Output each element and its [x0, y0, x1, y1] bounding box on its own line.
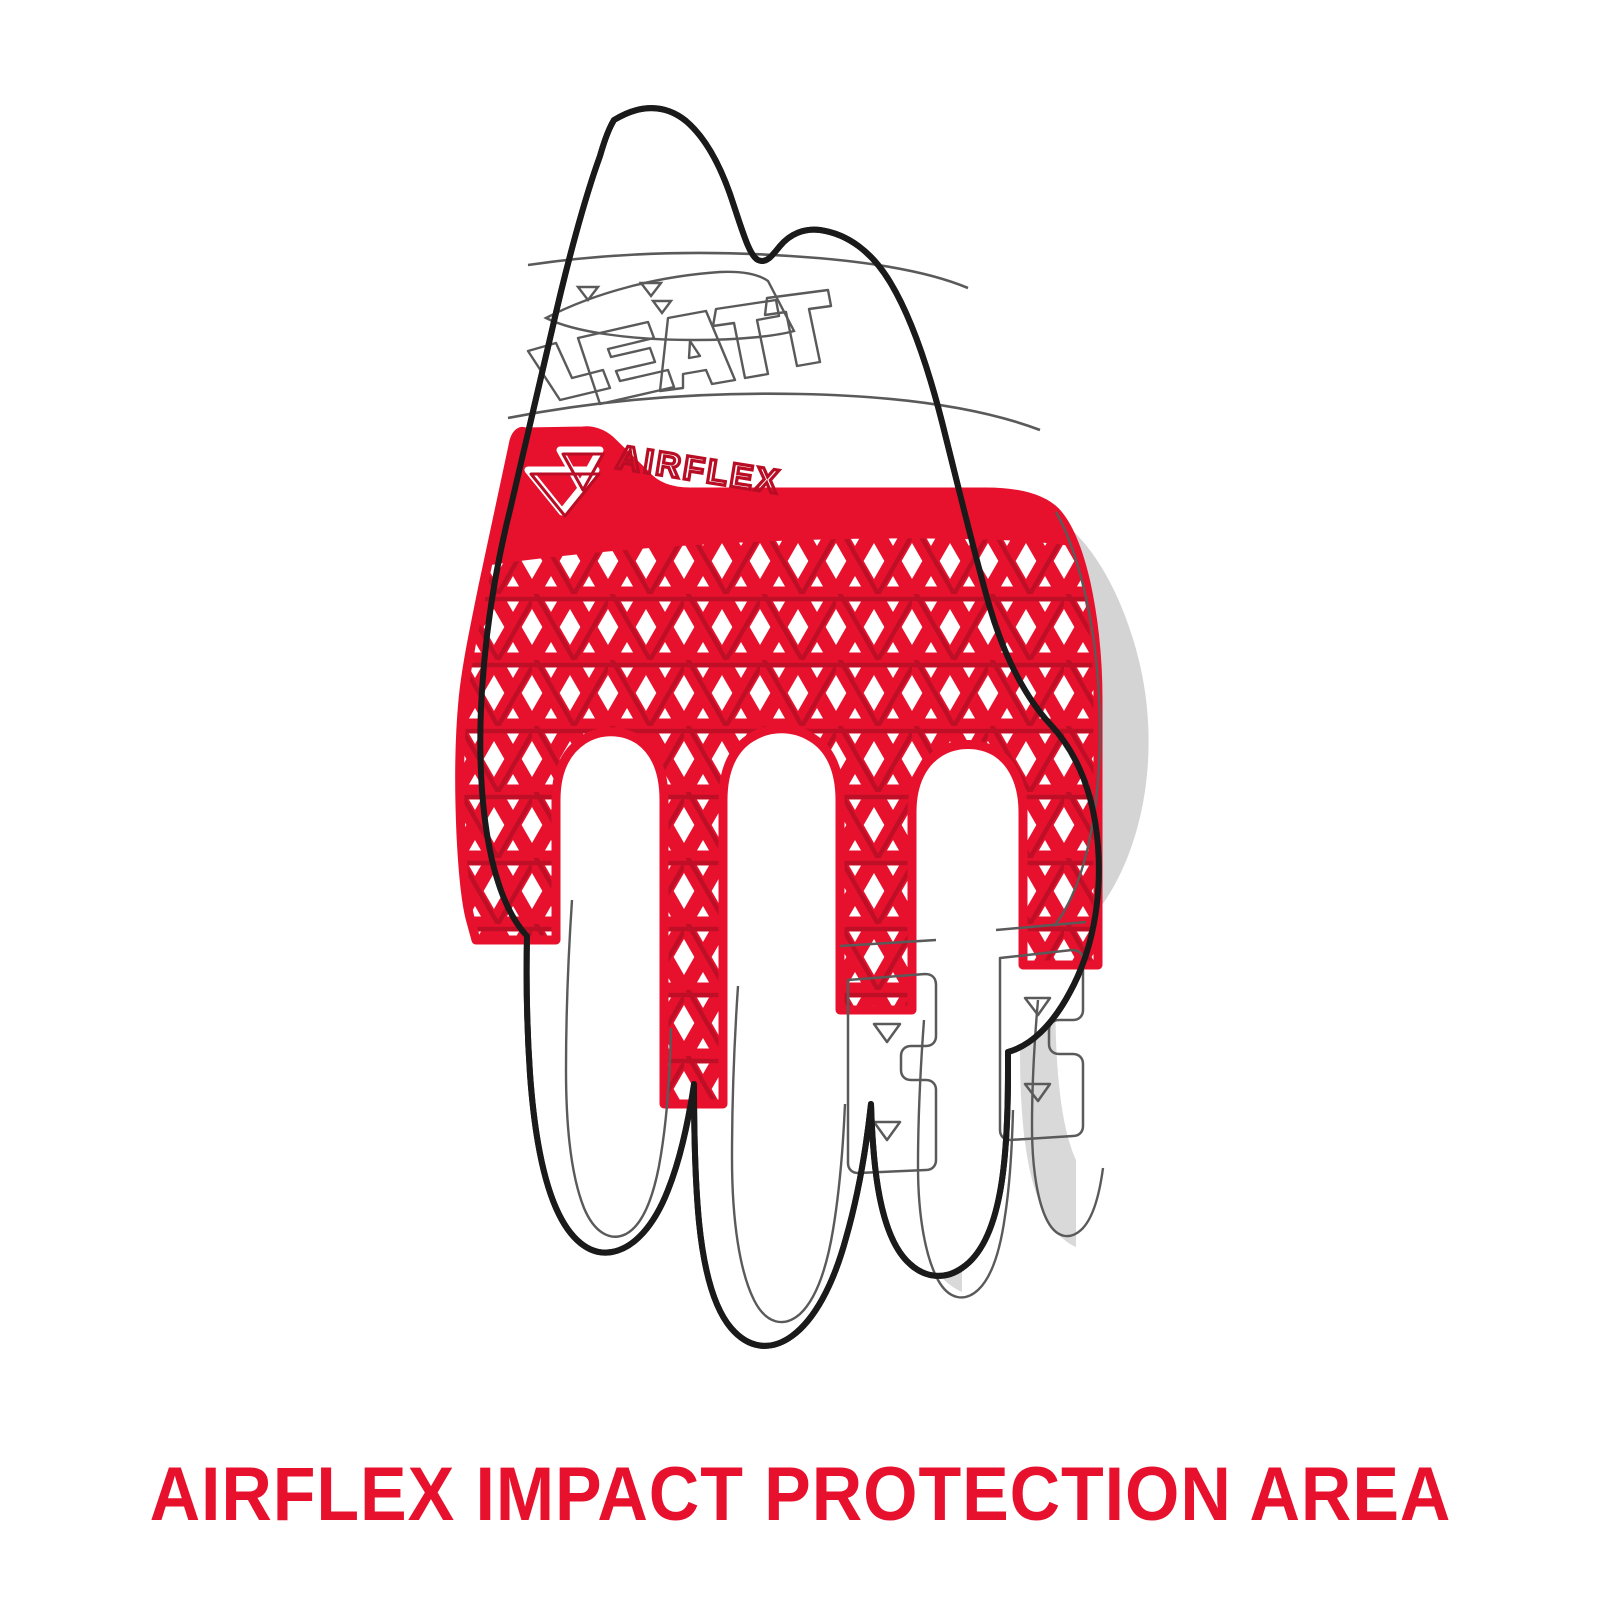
glove-svg: AIRFLEX: [0, 0, 1600, 1420]
caption-wrap: AIRFLEX IMPACT PROTECTION AREA: [0, 1440, 1600, 1550]
glove-illustration: AIRFLEX: [0, 0, 1600, 1420]
illustration-page: AIRFLEX: [0, 0, 1600, 1600]
caption-text: AIRFLEX IMPACT PROTECTION AREA: [149, 1457, 1451, 1533]
